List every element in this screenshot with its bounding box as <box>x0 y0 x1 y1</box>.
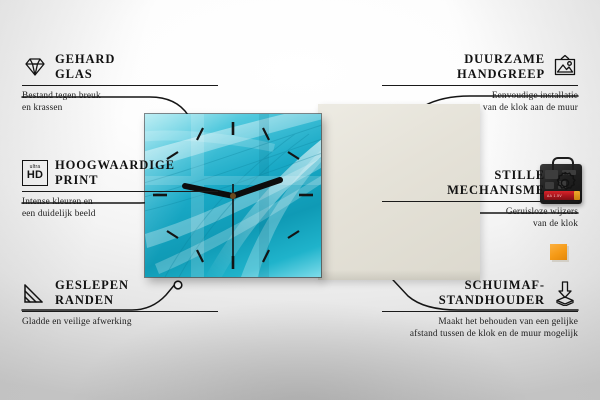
feature-title-line1: SCHUIMAF- <box>439 278 545 293</box>
feature-desc-line2: een duidelijk beeld <box>22 208 218 221</box>
feature-desc-line1: Intense kleuren en <box>22 196 218 209</box>
feature-title-line1: HOOGWAARDIGE <box>55 158 175 173</box>
feature-title-line1: STILLE <box>447 168 545 183</box>
feature-divider <box>382 85 578 86</box>
feature-description: Gladde en veilige afwerking <box>22 316 218 329</box>
feature-desc-line2: en krassen <box>22 102 218 115</box>
foam-spacer-pad <box>550 244 567 260</box>
feature-title: DUURZAME HANDGREEP <box>457 52 545 82</box>
beveled-edges-icon <box>22 280 48 306</box>
feature-title-line1: DUURZAME <box>457 52 545 67</box>
feature-polished-edges: GESLEPEN RANDEN Gladde en veilige afwerk… <box>22 278 218 328</box>
feature-heading: SCHUIMAF- STANDHOUDER <box>382 278 578 308</box>
infographic-canvas: AA 1.5V <box>0 0 600 400</box>
picture-frame-hanger-icon <box>552 54 578 80</box>
feature-durable-handle: DUURZAME HANDGREEP Eenvoudige installati… <box>382 52 578 115</box>
feature-description: Geruisloze wijzers van de klok <box>382 206 578 231</box>
feature-heading: DUURZAME HANDGREEP <box>382 52 578 82</box>
press-down-pad-icon <box>552 280 578 306</box>
feature-hd-print: ultra HD HOOGWAARDIGE PRINT Intense kleu… <box>22 158 218 221</box>
diamond-icon <box>22 54 48 80</box>
feature-desc-line1: Bestand tegen breuk <box>22 90 218 103</box>
feature-desc-line2: van de klok aan de muur <box>382 102 578 115</box>
feature-title-line2: RANDEN <box>55 293 129 308</box>
ultra-hd-badge-icon: ultra HD <box>22 160 48 186</box>
feature-divider <box>22 311 218 312</box>
feature-silent-mechanism: STILLE MECHANISME Geruisloze wijzers van… <box>382 168 578 231</box>
feature-description: Maakt het behouden van een gelijke afsta… <box>382 316 578 341</box>
feature-divider <box>22 191 218 192</box>
feature-foam-spacer: SCHUIMAF- STANDHOUDER Maakt het behouden… <box>382 278 578 341</box>
feature-heading: GEHARD GLAS <box>22 52 218 82</box>
feature-title: HOOGWAARDIGE PRINT <box>55 158 175 188</box>
feature-desc-line1: Geruisloze wijzers <box>382 206 578 219</box>
feature-title: STILLE MECHANISME <box>447 168 545 198</box>
feature-title-line2: PRINT <box>55 173 175 188</box>
feature-title: GESLEPEN RANDEN <box>55 278 129 308</box>
feature-heading: ultra HD HOOGWAARDIGE PRINT <box>22 158 218 188</box>
feature-desc-line2: afstand tussen de klok en de muur mogeli… <box>382 328 578 341</box>
feature-description: Eenvoudige installatie van de klok aan d… <box>382 90 578 115</box>
feature-desc-line2: van de klok <box>382 218 578 231</box>
feature-heading: STILLE MECHANISME <box>382 168 578 198</box>
feature-desc-line1: Maakt het behouden van een gelijke <box>382 316 578 329</box>
feature-title-line1: GEHARD <box>55 52 115 67</box>
feature-title: SCHUIMAF- STANDHOUDER <box>439 278 545 308</box>
feature-divider <box>22 85 218 86</box>
hands-center-cap <box>230 193 236 199</box>
feature-title-line2: HANDGREEP <box>457 67 545 82</box>
badge-bottom-text: HD <box>27 170 43 181</box>
feature-description: Bestand tegen breuk en krassen <box>22 90 218 115</box>
feature-title-line1: GESLEPEN <box>55 278 129 293</box>
feature-divider <box>382 201 578 202</box>
feature-desc-line1: Eenvoudige installatie <box>382 90 578 103</box>
feature-desc-line1: Gladde en veilige afwerking <box>22 316 218 329</box>
feature-heading: GESLEPEN RANDEN <box>22 278 218 308</box>
feature-description: Intense kleuren en een duidelijk beeld <box>22 196 218 221</box>
feature-title-line2: GLAS <box>55 67 115 82</box>
feature-title-line2: STANDHOUDER <box>439 293 545 308</box>
feature-tempered-glass: GEHARD GLAS Bestand tegen breuk en krass… <box>22 52 218 115</box>
feature-divider <box>382 311 578 312</box>
gear-icon <box>552 170 578 196</box>
feature-title: GEHARD GLAS <box>55 52 115 82</box>
feature-title-line2: MECHANISME <box>447 183 545 198</box>
